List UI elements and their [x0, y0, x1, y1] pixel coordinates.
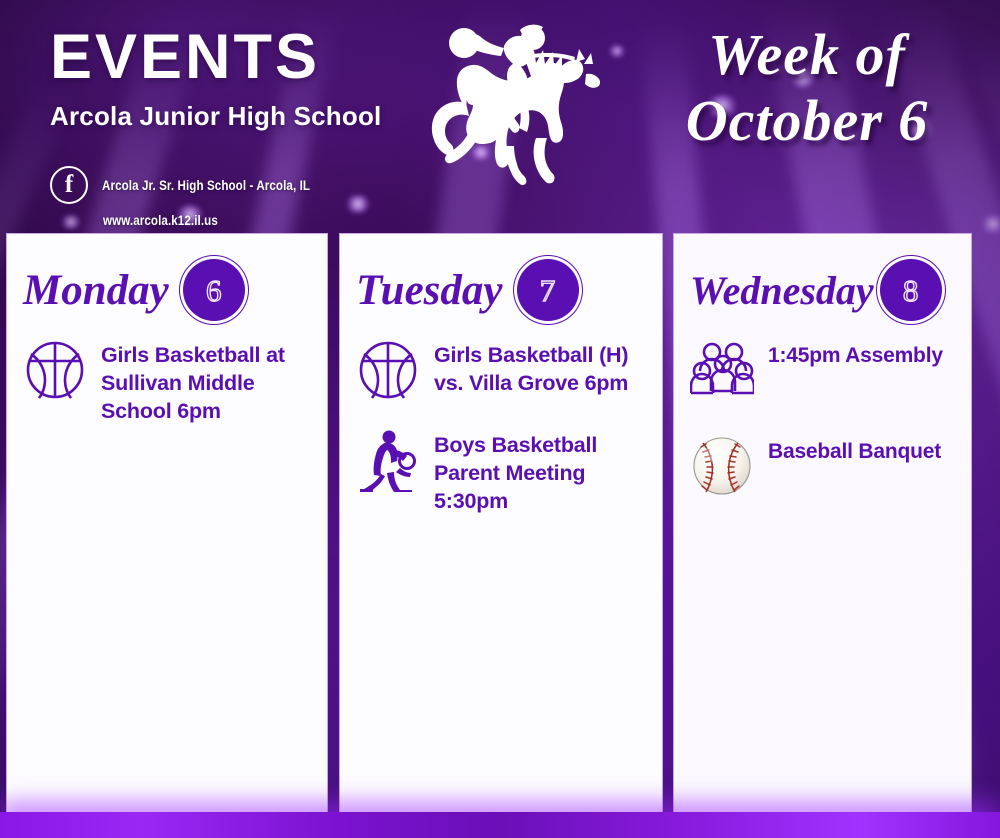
poster-header: EVENTS Arcola Junior High School f Arcol…	[0, 0, 1000, 233]
event-text: Baseball Banquet	[768, 434, 941, 465]
baseball-icon	[690, 434, 754, 498]
title-block: EVENTS Arcola Junior High School	[50, 26, 381, 132]
event-text: 1:45pm Assembly	[768, 338, 943, 369]
day-name: Tuesday	[356, 266, 503, 315]
event-item[interactable]: Girls Basketball at Sullivan Middle Scho…	[23, 338, 311, 426]
website-url[interactable]: www.arcola.k12.il.us	[103, 213, 218, 228]
day-card-tuesday[interactable]: Tuesday 7 Girls Basketball (H) vs. Villa…	[339, 233, 663, 826]
facebook-handle: Arcola Jr. Sr. High School - Arcola, IL	[102, 178, 310, 193]
day-date-badge: 6	[183, 259, 245, 321]
facebook-contact-row[interactable]: f Arcola Jr. Sr. High School - Arcola, I…	[50, 166, 344, 204]
day-date-number: 6	[206, 275, 222, 306]
week-heading-line1: Week of	[642, 22, 972, 88]
basketball-outline-icon	[356, 338, 420, 402]
basketball-player-silhouette-icon	[356, 428, 420, 492]
event-item[interactable]: 1:45pm Assembly	[690, 338, 955, 402]
day-date-number: 7	[540, 275, 556, 306]
day-cards-row: Monday 6 Girls Basketball at Sullivan Mi…	[0, 233, 1000, 826]
day-name: Monday	[23, 266, 169, 315]
day-card-header: Tuesday 7	[356, 254, 646, 326]
event-item[interactable]: Girls Basketball (H) vs. Villa Grove 6pm	[356, 338, 646, 402]
event-item[interactable]: Boys Basketball Parent Meeting 5:30pm	[356, 428, 646, 516]
event-item[interactable]: Baseball Banquet	[690, 434, 955, 498]
day-card-monday[interactable]: Monday 6 Girls Basketball at Sullivan Mi…	[6, 233, 328, 826]
events-poster: EVENTS Arcola Junior High School f Arcol…	[0, 0, 1000, 838]
day-date-badge: 8	[880, 259, 942, 321]
day-card-header: Monday 6	[23, 254, 311, 326]
group-of-people-icon	[690, 338, 754, 402]
page-title: EVENTS	[50, 26, 381, 89]
day-card-header: Wednesday 8	[690, 254, 955, 326]
week-heading-line2: October 6	[642, 88, 972, 154]
basketball-outline-icon	[23, 338, 87, 402]
day-date-number: 8	[903, 275, 919, 306]
day-name: Wednesday	[690, 267, 874, 314]
day-date-badge: 7	[517, 259, 579, 321]
school-name: Arcola Junior High School	[50, 101, 381, 132]
bucking-bronco-rider-icon	[408, 18, 608, 188]
week-heading: Week of October 6	[642, 22, 972, 154]
event-text: Girls Basketball at Sullivan Middle Scho…	[101, 338, 311, 426]
event-text: Boys Basketball Parent Meeting 5:30pm	[434, 428, 646, 516]
event-text: Girls Basketball (H) vs. Villa Grove 6pm	[434, 338, 646, 398]
bottom-accent-strip	[0, 812, 1000, 838]
day-card-wednesday[interactable]: Wednesday 8	[673, 233, 972, 826]
facebook-icon[interactable]: f	[50, 166, 88, 204]
facebook-glyph: f	[65, 172, 73, 197]
